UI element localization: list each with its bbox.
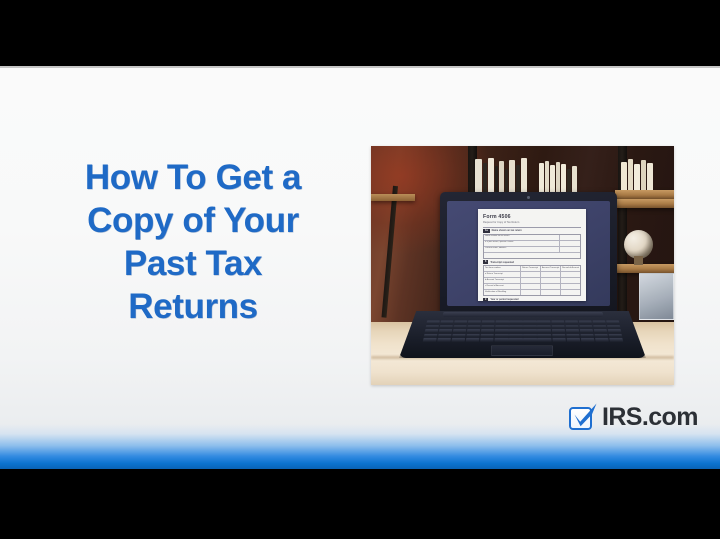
form-cell: Name shown on tax return (484, 235, 560, 240)
laptop-base (399, 311, 646, 358)
form-row (484, 253, 580, 258)
form-cell (541, 284, 561, 289)
form-col-header: Account Transcript (541, 266, 561, 271)
slide-title: How To Get a Copy of Your Past Tax Retur… (18, 156, 368, 328)
irs-com-logo: IRS.com (568, 403, 698, 432)
form-cell (521, 284, 541, 289)
form-cell (560, 235, 580, 240)
form-section-1-label: Name shown on tax return (492, 229, 522, 232)
form-divider (483, 227, 581, 228)
form-cell (541, 278, 561, 283)
form-cell (484, 253, 580, 258)
form-cell: a Return Transcript (484, 272, 521, 277)
keyboard-row (424, 333, 623, 337)
title-line-2: Copy of Your (18, 199, 368, 242)
form-cell (560, 241, 580, 246)
laptop-lid: Form 4506 Request for Copy of Tax Return… (440, 192, 617, 313)
letterbox-bar-bottom (0, 469, 720, 539)
form-section-1-header: 1a Name shown on tax return (483, 229, 581, 233)
form-section-2-header: 6 Transcript requested (483, 260, 581, 264)
laptop-desk-photo: Form 4506 Request for Copy of Tax Return… (371, 146, 674, 385)
keyboard-row (426, 321, 619, 325)
form-section-3-header: 9 Year or period requested (483, 298, 581, 301)
form-cell: Verification of Nonfiling (484, 290, 521, 295)
form-cell (521, 272, 541, 277)
form-cell (541, 272, 561, 277)
webcam-icon (527, 196, 530, 199)
checkbox-checked-icon (568, 403, 597, 432)
form-title: Form 4506 (483, 214, 581, 220)
presentation-slide: How To Get a Copy of Your Past Tax Retur… (0, 66, 720, 469)
form-section-2-box: Tax form number Return Transcript Accoun… (483, 265, 581, 296)
form-cell: b Account Transcript (484, 278, 521, 283)
laptop-keyboard (423, 321, 623, 342)
keyboard-row (423, 338, 623, 342)
laptop: Form 4506 Request for Copy of Tax Return… (399, 192, 646, 358)
form-section-1-box: Name shown on tax return If a joint retu… (483, 234, 581, 259)
form-cell (521, 290, 541, 295)
keyboard-row (425, 329, 622, 333)
form-section-3-tag: 9 (483, 298, 488, 301)
form-cell (541, 290, 561, 295)
form-section-2-label: Transcript requested (490, 261, 514, 264)
form-col-header: Return Transcript (521, 266, 541, 271)
form-cell (561, 272, 580, 277)
form-section-1-tag: 1a (483, 229, 490, 233)
form-col-header: Record of Account (561, 266, 580, 271)
form-cell: Current name, address (484, 247, 560, 252)
form-row: Verification of Nonfiling (484, 290, 580, 295)
laptop-hinge (443, 312, 603, 317)
title-line-1: How To Get a (18, 156, 368, 199)
keyboard-row (426, 325, 621, 329)
form-cell (561, 284, 580, 289)
form-cell (521, 278, 541, 283)
form-cell: c Record of Account (484, 284, 521, 289)
books-group-right (621, 158, 669, 190)
form-cell: If a joint return, spouse's name (484, 241, 560, 246)
title-line-4: Returns (18, 285, 368, 328)
form-cell (561, 290, 580, 295)
video-player-frame: How To Get a Copy of Your Past Tax Retur… (0, 0, 720, 539)
tax-form-document: Form 4506 Request for Copy of Tax Return… (478, 209, 586, 301)
form-col-header: Tax form number (484, 266, 521, 271)
laptop-trackpad (491, 345, 553, 356)
title-line-3: Past Tax (18, 242, 368, 285)
logo-brand-text: IRS.com (602, 403, 698, 432)
laptop-screen: Form 4506 Request for Copy of Tax Return… (447, 201, 610, 306)
form-section-2-tag: 6 (483, 260, 488, 264)
form-cell (561, 278, 580, 283)
form-section-3-label: Year or period requested (490, 298, 518, 301)
form-subtitle: Request for Copy of Tax Return (483, 221, 581, 225)
slide-top-edge (0, 66, 720, 68)
letterbox-bar-top (0, 0, 720, 66)
form-cell (560, 247, 580, 252)
